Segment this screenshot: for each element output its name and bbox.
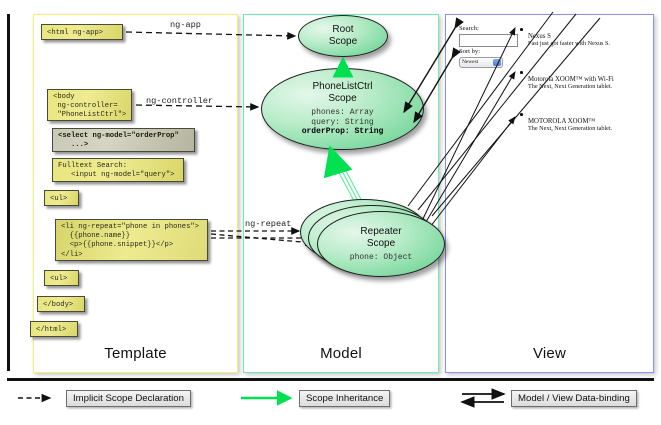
view-phone-name-2: MOTOROLA XOOM™ [528,118,595,125]
scope-repeater: Repeater Scope phone: Object [317,211,445,277]
template-box-li-repeat: <li ng-repeat="phone in phones"> {{phone… [55,219,208,261]
scope-repeater-props: phone: Object [350,253,412,263]
scope-phonelistctrl-props-bold: orderProp: String [302,127,384,137]
edge-label-ng-app: ng-app [170,20,201,30]
legend-model-view-data-binding: Model / View Data-binding [511,390,637,407]
template-box-select: <select ng-model="orderProp" ...> [52,128,195,152]
template-box-body-controller: <body ng-controller= "PhoneListCtrl"> [47,89,132,121]
scope-root-title: Root Scope [329,24,357,48]
scope-repeater-title: Repeater Scope [360,226,401,250]
left-vertical-rule [7,14,10,371]
template-box-ul-open: <ul> [44,190,79,206]
chevron-down-icon [493,59,501,66]
scope-phonelistctrl-title: PhoneListCtrl Scope [312,81,372,105]
view-phone-name-0: Nexus S [528,33,551,40]
view-phone-snippet-2: The Next, Next Generation tablet. [528,125,653,133]
view-phone-name-1: Motorola XOOM™ with Wi-Fi [528,76,614,83]
edge-label-ng-controller: ng-controller [146,96,213,106]
column-view-label: View [446,345,653,362]
bullet-icon [520,28,523,31]
template-box-html-close: </html> [30,321,78,337]
view-browser-content: Search: Sort by: Newest Nexus S Fast jus… [454,21,647,336]
column-template-label: Template [34,345,237,362]
legend-arrow-double [462,394,504,402]
template-box-fulltext-search: Fulltext Search: <input ng-model="query"… [52,158,184,182]
view-phone-snippet-1: The Next, Next Generation tablet. [528,83,653,91]
legend-scope-inheritance: Scope Inheritance [299,390,390,407]
legend-implicit-scope-declaration: Implicit Scope Declaration [66,390,191,407]
scope-phonelistctrl-props-plain: phones: Array query: String [311,108,373,127]
view-search-input[interactable] [459,34,518,47]
view-sort-select-value: Newest [462,59,478,65]
scope-phonelistctrl: PhoneListCtrl Scope phones: Array query:… [261,68,424,150]
column-view: View Search: Sort by: Newest Nexus S Fas… [445,14,654,373]
view-sort-label: Sort by: [459,48,480,55]
template-box-html-tag: <html ng-app> [41,24,123,40]
diagram-root: Template <html ng-app> <body ng-controll… [0,0,661,425]
legend-divider [7,378,654,381]
scope-root: Root Scope [298,15,388,57]
template-box-ul-close: <ul> [44,270,79,286]
edge-label-ng-repeat: ng-repeat [245,219,291,229]
view-search-label: Search: [459,25,479,32]
view-phone-snippet-0: Fast just got faster with Nexus S. [528,40,648,48]
column-model-label: Model [244,345,438,362]
view-sort-select[interactable]: Newest [459,57,503,68]
template-box-body-close: </body> [37,296,85,312]
bullet-icon [520,71,523,74]
bullet-icon [520,113,523,116]
